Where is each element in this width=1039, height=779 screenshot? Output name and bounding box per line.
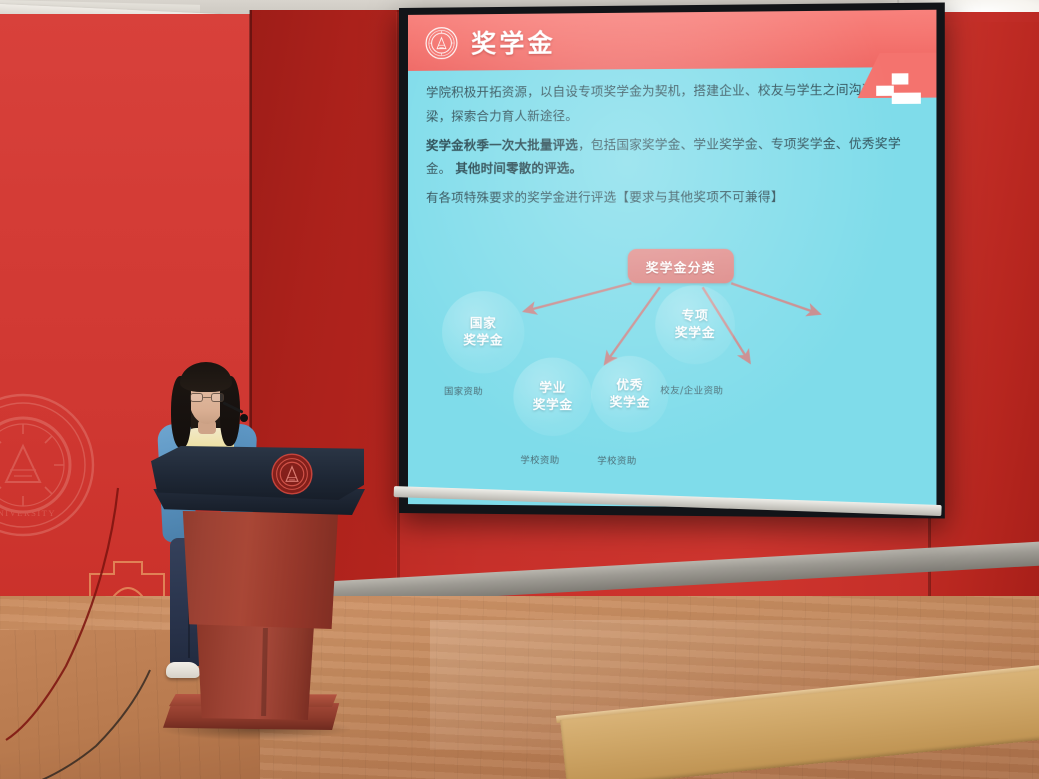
para2-run3-bold: 其他时间零散的评选。	[455, 161, 582, 177]
microphone-icon	[240, 414, 248, 422]
node-zhuanxiang-line2: 奖学金	[675, 325, 715, 342]
center-node-label: 奖学金分类	[646, 256, 716, 275]
stepped-squares-motif-icon	[876, 73, 922, 104]
slide-body-text: 学院积极开拓资源，以自设专项奖学金为契机，搭建企业、校友与学生之间沟通的桥梁，探…	[426, 77, 922, 215]
node-xueye-line2: 奖学金	[533, 397, 573, 414]
node-zhuanxiang-line1: 专项	[675, 308, 715, 325]
para3-run1: 有各项特殊要求的奖学金进行评选【要求与其他奖项不可兼得】	[426, 189, 784, 205]
caption-guojia: 国家资助	[444, 383, 483, 397]
para1-run1: 学院积极开拓资源，以自设专项奖学金为契机，搭建企业、校友与学生之间沟通的桥梁，探…	[426, 81, 901, 123]
para2-run1-bold: 奖学金秋季一次大批量评选	[426, 137, 578, 153]
floor-cable	[0, 440, 360, 779]
slide-paragraph-2: 奖学金秋季一次大批量评选，包括国家奖学金、学业奖学金、专项奖学金、优秀奖学金。 …	[426, 131, 922, 181]
caption-xueye: 学校资助	[520, 452, 559, 466]
node-youxiu-line1: 优秀	[610, 377, 650, 394]
caption-youxiu: 学校资助	[597, 453, 636, 467]
diagram-node-youxiu: 优秀 奖学金	[591, 356, 668, 433]
diagram-center-node: 奖学金分类	[628, 249, 734, 283]
node-guojia-line2: 奖学金	[463, 332, 503, 349]
scholarship-classification-diagram: 奖学金分类 国家 奖学金 学业 奖学金 优秀	[408, 243, 936, 496]
slide-paragraph-3: 有各项特殊要求的奖学金进行评选【要求与其他奖项不可兼得】	[426, 185, 922, 210]
node-youxiu-line2: 奖学金	[610, 394, 650, 411]
glasses-icon	[190, 393, 224, 402]
caption-zhuanxiang: 校友/企业资助	[660, 382, 723, 396]
diagram-node-guojia: 国家 奖学金	[442, 291, 524, 374]
diagram-node-zhuanxiang: 专项 奖学金	[655, 285, 735, 364]
diagram-node-xueye: 学业 奖学金	[513, 357, 592, 436]
lecture-hall-photo: UNIVERSITY SJTU	[0, 0, 1039, 779]
slide-paragraph-1: 学院积极开拓资源，以自设专项奖学金为契机，搭建企业、校友与学生之间沟通的桥梁，探…	[426, 77, 922, 128]
node-guojia-line1: 国家	[463, 315, 503, 332]
slide-title: 奖学金	[471, 24, 556, 61]
node-xueye-line1: 学业	[533, 380, 573, 397]
presenter-bangs	[180, 362, 232, 392]
slide-header: 奖学金	[408, 10, 936, 71]
presentation-slide: 奖学金 学院积极开拓资源，以自设专项奖学金为契机，搭建企业、校友与学生之间沟通的…	[408, 10, 936, 509]
sjtu-seal-emblem-icon	[425, 26, 458, 59]
projection-screen[interactable]: 奖学金 学院积极开拓资源，以自设专项奖学金为契机，搭建企业、校友与学生之间沟通的…	[399, 2, 945, 518]
